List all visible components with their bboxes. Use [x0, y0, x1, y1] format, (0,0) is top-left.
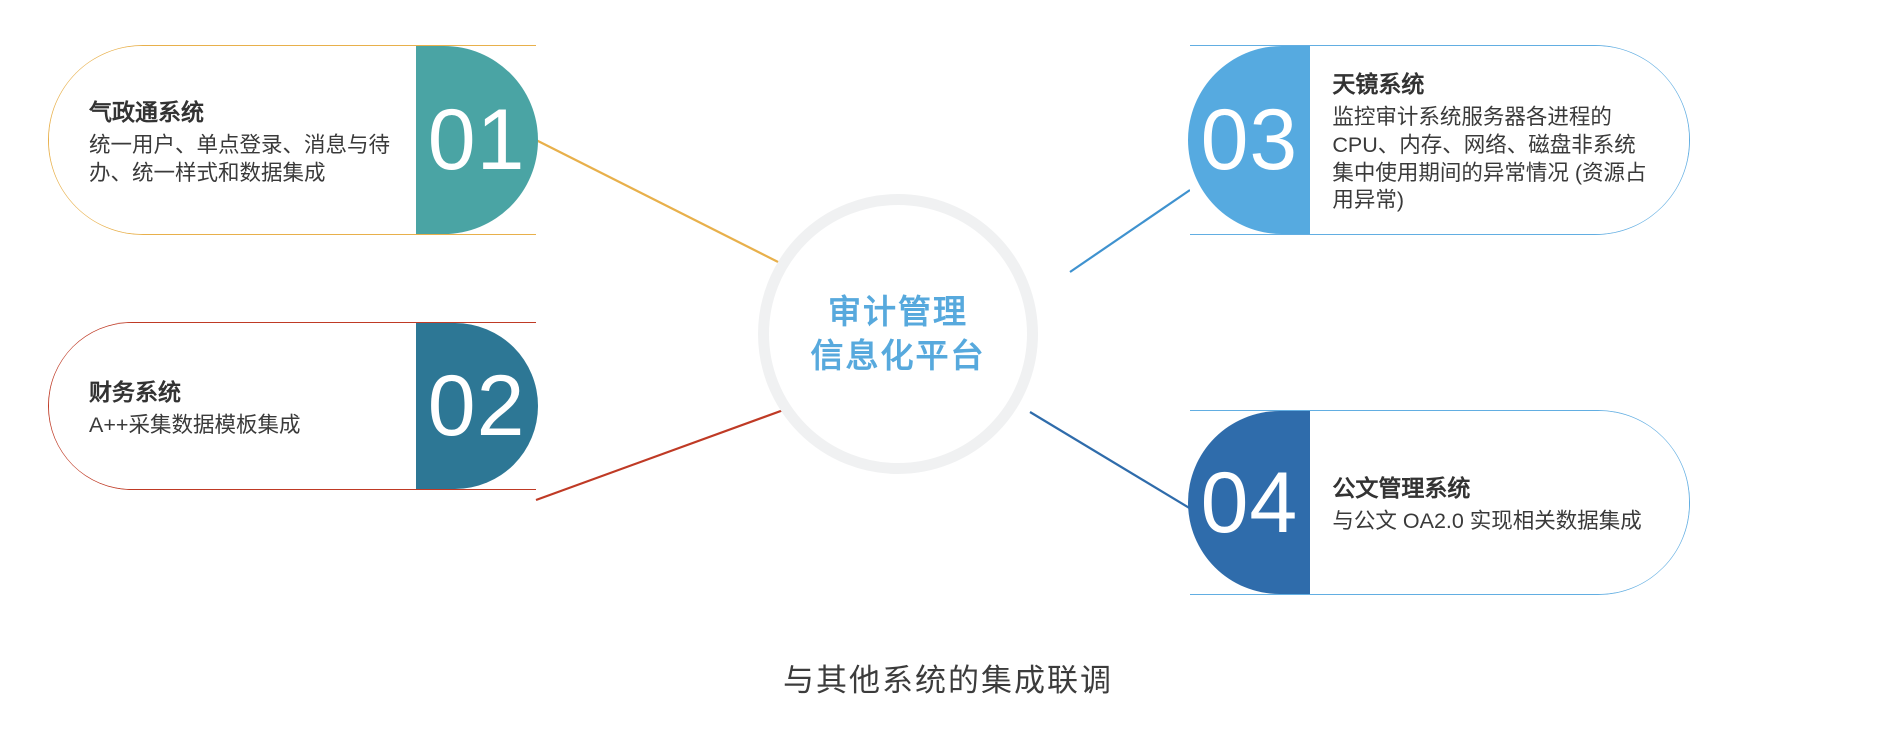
center-hub: 审计管理 信息化平台: [758, 194, 1038, 474]
card-03-body: 天镜系统 监控审计系统服务器各进程的CPU、内存、网络、磁盘非系统集中使用期间的…: [1310, 46, 1689, 234]
connector-03: [1070, 190, 1190, 272]
card-01-number-badge: 01: [416, 46, 538, 234]
card-04-number-badge: 04: [1188, 411, 1310, 594]
card-04[interactable]: 04 公文管理系统 与公文 OA2.0 实现相关数据集成: [1190, 410, 1690, 595]
diagram-canvas: 审计管理 信息化平台 气政通系统 统一用户、单点登录、消息与待办、统一样式和数据…: [0, 0, 1896, 748]
card-02-desc: A++采集数据模板集成: [89, 412, 406, 440]
card-04-title: 公文管理系统: [1332, 469, 1655, 503]
card-02-body: 财务系统 A++采集数据模板集成: [49, 323, 416, 489]
card-04-desc: 与公文 OA2.0 实现相关数据集成: [1332, 508, 1655, 536]
card-02-number-badge: 02: [416, 323, 538, 489]
card-01-title: 气政通系统: [89, 93, 406, 127]
connector-02: [536, 404, 800, 500]
card-02-title: 财务系统: [89, 373, 406, 407]
hub-title-line-2: 信息化平台: [811, 334, 986, 378]
connector-04: [1030, 412, 1196, 512]
card-03-desc: 监控审计系统服务器各进程的CPU、内存、网络、磁盘非系统集中使用期间的异常情况 …: [1332, 104, 1655, 216]
card-03[interactable]: 03 天镜系统 监控审计系统服务器各进程的CPU、内存、网络、磁盘非系统集中使用…: [1190, 45, 1690, 235]
hub-title-line-1: 审计管理: [828, 290, 968, 334]
card-03-number-badge: 03: [1188, 46, 1310, 234]
card-01-body: 气政通系统 统一用户、单点登录、消息与待办、统一样式和数据集成: [49, 46, 416, 234]
card-04-body: 公文管理系统 与公文 OA2.0 实现相关数据集成: [1310, 411, 1689, 594]
diagram-caption: 与其他系统的集成联调: [0, 655, 1896, 700]
card-03-title: 天镜系统: [1332, 65, 1655, 99]
card-01-desc: 统一用户、单点登录、消息与待办、统一样式和数据集成: [89, 132, 406, 188]
card-02[interactable]: 财务系统 A++采集数据模板集成 02: [48, 322, 536, 490]
connector-01: [536, 140, 790, 268]
card-01[interactable]: 气政通系统 统一用户、单点登录、消息与待办、统一样式和数据集成 01: [48, 45, 536, 235]
